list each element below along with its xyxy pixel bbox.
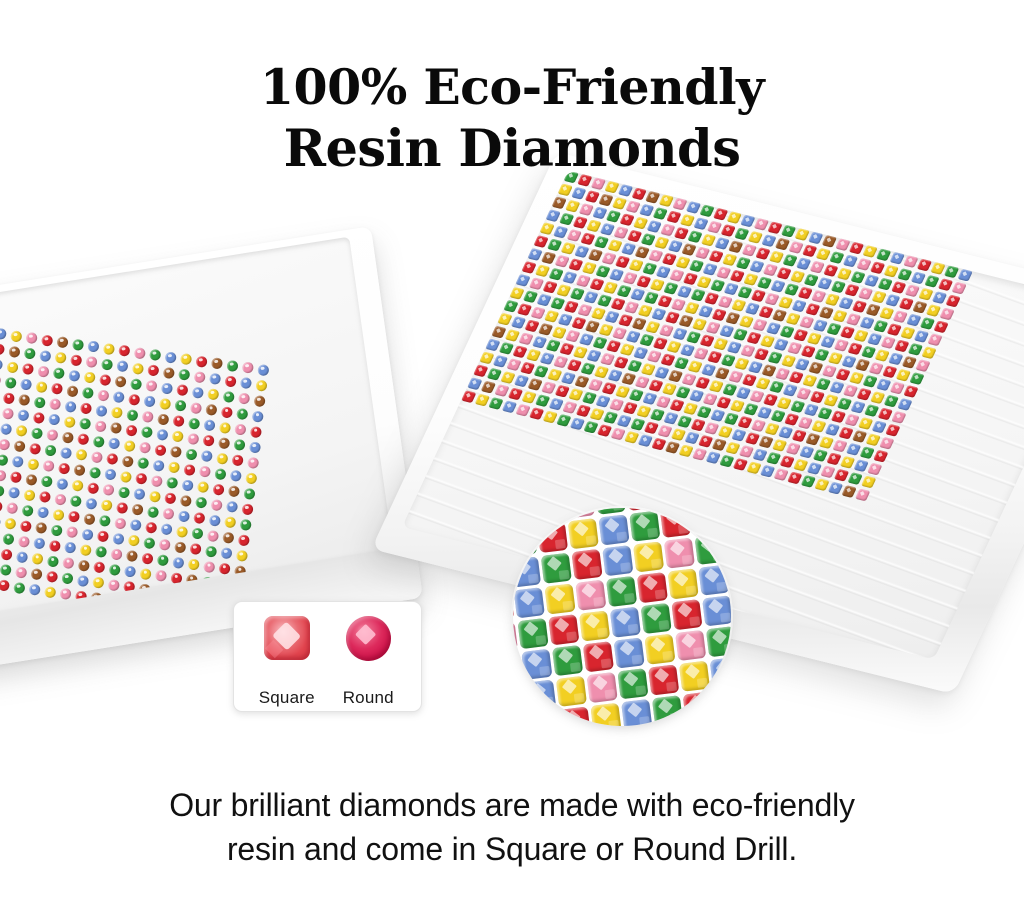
drill-bead xyxy=(652,695,683,726)
drill-bead xyxy=(226,500,238,513)
drill-bead xyxy=(683,691,714,722)
drill-bead xyxy=(82,528,94,541)
drill-bead xyxy=(729,561,731,592)
drill-bead xyxy=(128,534,140,547)
drill-bead xyxy=(24,347,36,360)
drill-bead xyxy=(602,545,633,576)
drill-bead xyxy=(679,661,710,692)
drill-bead xyxy=(207,529,219,542)
drill-bead xyxy=(99,373,111,386)
drill-bead xyxy=(0,515,1,528)
drill-bead xyxy=(145,380,157,393)
drill-bead xyxy=(174,541,186,554)
drill-bead xyxy=(16,550,28,563)
drill-bead xyxy=(228,485,240,498)
drill-bead xyxy=(132,362,144,375)
drill-bead xyxy=(236,549,248,562)
drill-bead xyxy=(95,545,107,558)
drill-bead xyxy=(200,450,212,463)
drill-bead xyxy=(6,361,18,374)
drill-bead xyxy=(725,530,731,561)
drill-bead xyxy=(706,626,731,657)
drill-bead xyxy=(686,722,717,726)
drill-bead xyxy=(1,548,13,561)
drill-bead xyxy=(637,572,668,603)
drill-bead xyxy=(241,503,253,516)
drill-bead xyxy=(137,457,149,470)
drill-bead xyxy=(0,564,11,577)
drill-bead xyxy=(513,556,541,587)
drill-bead xyxy=(49,539,61,552)
drill-bead xyxy=(130,377,142,390)
drill-bead xyxy=(187,432,199,445)
drill-bead xyxy=(83,512,95,525)
drill-bead xyxy=(54,493,66,506)
drill-bead xyxy=(250,425,262,438)
drill-bead xyxy=(698,565,729,596)
drill-bead xyxy=(178,510,190,523)
drill-bead xyxy=(702,595,731,626)
drill-bead xyxy=(169,446,181,459)
drill-bead xyxy=(44,444,56,457)
drill-bead xyxy=(610,607,641,638)
drill-bead xyxy=(125,424,137,437)
drill-bead xyxy=(224,375,236,388)
drill-bead xyxy=(579,610,610,641)
drill-bead xyxy=(107,579,119,592)
drill-bead xyxy=(219,562,231,575)
drill-bead xyxy=(13,581,25,594)
drill-bead xyxy=(236,408,248,421)
drill-bead xyxy=(216,452,228,465)
drill-bead xyxy=(537,522,568,553)
drill-bead xyxy=(722,508,731,530)
drill-bead xyxy=(675,630,706,661)
drill-bead xyxy=(93,561,105,574)
drill-bead xyxy=(8,486,20,499)
drill-bead xyxy=(68,510,80,523)
drill-bead xyxy=(97,389,109,402)
drill-bead xyxy=(150,474,162,487)
drill-bead xyxy=(204,419,216,432)
drill-bead xyxy=(212,483,224,496)
drill-bead xyxy=(185,448,197,461)
drill-bead xyxy=(203,560,215,573)
drill-bead xyxy=(548,614,579,645)
drill-bead xyxy=(116,360,128,373)
drill-bead xyxy=(629,511,660,542)
drill-bead xyxy=(575,580,606,611)
drill-bead xyxy=(245,472,257,485)
drill-bead xyxy=(0,422,12,435)
drill-bead xyxy=(20,378,32,391)
drill-bead xyxy=(587,672,618,703)
drill-bead xyxy=(41,334,53,347)
drill-bead xyxy=(92,435,104,448)
drill-bead xyxy=(78,418,90,431)
drill-bead xyxy=(142,552,154,565)
drill-bead xyxy=(85,356,97,369)
magnifier-closeup-circle xyxy=(513,508,731,726)
drill-bead xyxy=(190,543,202,556)
drill-bead xyxy=(220,547,232,560)
drill-bead xyxy=(61,572,73,585)
drill-bead xyxy=(606,576,637,607)
drill-bead xyxy=(192,386,204,399)
drill-bead xyxy=(67,384,79,397)
drill-bead xyxy=(14,566,26,579)
drill-bead xyxy=(149,490,161,503)
drill-bead xyxy=(514,587,545,618)
drill-bead xyxy=(0,469,7,482)
drill-bead xyxy=(171,430,183,443)
drill-bead xyxy=(552,645,583,676)
drill-bead xyxy=(0,374,2,387)
drill-bead xyxy=(65,400,77,413)
drill-bead xyxy=(64,541,76,554)
drill-bead xyxy=(23,489,35,502)
drill-bead xyxy=(30,427,42,440)
drill-bead xyxy=(22,504,34,517)
drill-bead xyxy=(25,473,37,486)
drill-bead xyxy=(235,423,247,436)
drill-bead xyxy=(35,522,47,535)
drill-bead xyxy=(29,442,41,455)
drill-bead xyxy=(116,501,128,514)
drill-bead xyxy=(157,554,169,567)
drill-bead xyxy=(142,410,154,423)
drill-bead xyxy=(710,657,731,688)
drill-bead xyxy=(72,338,84,351)
drill-bead xyxy=(76,574,88,587)
drill-bead xyxy=(180,353,192,366)
legend-label-square: Square xyxy=(240,688,334,708)
drill-bead xyxy=(49,398,61,411)
page-title: 100% Eco-Friendly Resin Diamonds xyxy=(0,56,1024,180)
drill-bead xyxy=(183,463,195,476)
drill-bead xyxy=(77,433,89,446)
drill-bead xyxy=(124,565,136,578)
drill-type-legend-card: Square Round xyxy=(233,601,422,712)
drill-bead xyxy=(18,535,30,548)
page-caption: Our brilliant diamonds are made with eco… xyxy=(0,783,1024,871)
drill-bead xyxy=(11,455,23,468)
drill-bead xyxy=(671,599,702,630)
drill-bead xyxy=(641,603,672,634)
drill-bead xyxy=(135,472,147,485)
drill-bead xyxy=(513,714,529,726)
drill-bead xyxy=(617,668,648,699)
drill-bead xyxy=(544,583,575,614)
drill-bead xyxy=(73,464,85,477)
drill-bead xyxy=(513,653,522,684)
drill-bead xyxy=(22,363,34,376)
drill-bead xyxy=(37,506,49,519)
drill-bead xyxy=(3,533,15,546)
drill-bead xyxy=(513,526,537,557)
drill-bead xyxy=(131,503,143,516)
drill-bead xyxy=(10,330,22,343)
caption-line-1: Our brilliant diamonds are made with eco… xyxy=(0,783,1024,827)
drill-bead xyxy=(103,342,115,355)
drill-bead xyxy=(161,382,173,395)
drill-bead xyxy=(529,710,560,726)
drill-bead xyxy=(233,439,245,452)
drill-bead xyxy=(210,498,222,511)
drill-bead xyxy=(176,525,188,538)
drill-bead xyxy=(84,371,96,384)
drill-bead xyxy=(109,422,121,435)
drill-bead xyxy=(118,486,130,499)
drill-bead xyxy=(108,437,120,450)
caption-line-2: resin and come in Square or Round Drill. xyxy=(0,827,1024,871)
drill-bead xyxy=(154,444,166,457)
drill-bead xyxy=(4,517,16,530)
drill-bead xyxy=(229,470,241,483)
legend-item-square: Square xyxy=(240,616,334,660)
drill-bead xyxy=(195,496,207,509)
drill-bead xyxy=(207,388,219,401)
drill-bead xyxy=(159,538,171,551)
drill-bead xyxy=(71,479,83,492)
legend-label-round: Round xyxy=(322,688,416,708)
drill-bead xyxy=(564,508,595,519)
drill-bead xyxy=(194,370,206,383)
drill-bead xyxy=(115,375,127,388)
left-tray-round-drills xyxy=(0,265,400,640)
drill-bead xyxy=(0,358,3,371)
drill-bead xyxy=(75,448,87,461)
drill-bead xyxy=(8,345,20,358)
drill-bead xyxy=(39,491,51,504)
drill-bead xyxy=(0,500,3,513)
drill-bead xyxy=(214,467,226,480)
drill-bead xyxy=(159,397,171,410)
drill-bead xyxy=(45,570,57,583)
legend-item-round: Round xyxy=(322,616,416,661)
drill-bead xyxy=(78,559,90,572)
drill-bead xyxy=(126,408,138,421)
drill-bead xyxy=(242,361,254,374)
drill-bead xyxy=(614,637,645,668)
drill-bead xyxy=(40,475,52,488)
drill-bead xyxy=(39,349,51,362)
drill-bead xyxy=(20,519,32,532)
drill-bead xyxy=(238,534,250,547)
drill-bead xyxy=(143,536,155,549)
drill-bead xyxy=(713,688,731,719)
drill-bead xyxy=(513,508,534,526)
drill-bead xyxy=(157,413,169,426)
drill-bead xyxy=(109,563,121,576)
drill-bead xyxy=(33,537,45,550)
drill-bead xyxy=(1,407,13,420)
drill-bead xyxy=(42,460,54,473)
drill-bead xyxy=(178,368,190,381)
drill-bead xyxy=(517,618,548,649)
drill-bead xyxy=(126,550,138,563)
drill-bead xyxy=(63,557,75,570)
drill-bead xyxy=(541,553,572,584)
drill-bead xyxy=(691,508,722,534)
drill-bead xyxy=(533,508,564,522)
drill-bead xyxy=(240,377,252,390)
drill-bead xyxy=(209,514,221,527)
drill-bead xyxy=(660,508,691,538)
drill-bead xyxy=(58,462,70,475)
drill-bead xyxy=(13,440,25,453)
drill-bead xyxy=(97,530,109,543)
drill-bead xyxy=(164,492,176,505)
square-drill-icon xyxy=(264,616,310,660)
drill-bead xyxy=(118,344,130,357)
drill-bead xyxy=(664,538,695,569)
drill-bead xyxy=(36,380,48,393)
drill-bead xyxy=(100,499,112,512)
drill-bead xyxy=(560,706,591,726)
drill-bead xyxy=(521,649,552,680)
drill-bead xyxy=(162,508,174,521)
drill-bead xyxy=(44,586,56,599)
drill-bead xyxy=(48,413,60,426)
drill-bead xyxy=(166,477,178,490)
drill-bead xyxy=(190,401,202,414)
drill-bead xyxy=(90,451,102,464)
drill-bead xyxy=(133,488,145,501)
drill-bead xyxy=(224,516,236,529)
drill-bead xyxy=(668,568,699,599)
drill-bead xyxy=(66,526,78,539)
drill-bead xyxy=(89,466,101,479)
drill-bead xyxy=(252,410,264,423)
drill-bead xyxy=(598,514,629,545)
drill-bead xyxy=(209,373,221,386)
drill-bead xyxy=(226,359,238,372)
magnified-square-drill-grid xyxy=(513,508,731,726)
drill-bead xyxy=(111,548,123,561)
drill-bead xyxy=(247,456,259,469)
headline-line-1: 100% Eco-Friendly xyxy=(0,56,1024,118)
drill-bead xyxy=(217,437,229,450)
drill-bead xyxy=(128,393,140,406)
drill-bead xyxy=(80,543,92,556)
headline-line-2: Resin Diamonds xyxy=(0,118,1024,180)
drill-bead xyxy=(147,364,159,377)
drill-bead xyxy=(205,403,217,416)
drill-bead xyxy=(160,523,172,536)
drill-bead xyxy=(156,428,168,441)
drill-bead xyxy=(195,355,207,368)
drill-bead xyxy=(104,468,116,481)
drill-bead xyxy=(590,703,621,726)
drill-bead xyxy=(55,351,67,364)
drill-bead xyxy=(0,453,8,466)
drill-bead xyxy=(114,517,126,530)
drill-bead xyxy=(121,455,133,468)
drill-bead xyxy=(255,379,267,392)
drill-bead xyxy=(61,431,73,444)
drill-bead xyxy=(51,524,63,537)
drill-bead xyxy=(28,583,40,596)
drill-bead xyxy=(51,382,63,395)
drill-bead xyxy=(648,664,679,695)
drill-bead xyxy=(219,421,231,434)
drill-bead xyxy=(87,481,99,494)
drill-bead xyxy=(556,676,587,707)
drill-bead xyxy=(168,461,180,474)
drill-bead xyxy=(113,391,125,404)
drill-bead xyxy=(147,505,159,518)
drill-bead xyxy=(119,470,131,483)
drill-bead xyxy=(583,641,614,672)
drill-bead xyxy=(37,365,49,378)
drill-bead xyxy=(10,471,22,484)
drill-bead xyxy=(172,556,184,569)
drill-bead xyxy=(30,568,42,581)
drill-bead xyxy=(102,484,114,497)
drill-bead xyxy=(96,404,108,417)
drill-bead xyxy=(571,549,602,580)
drill-bead xyxy=(176,384,188,397)
drill-bead xyxy=(188,558,200,571)
drill-bead xyxy=(221,406,233,419)
drill-bead xyxy=(205,545,217,558)
drill-bead xyxy=(15,425,27,438)
drill-bead xyxy=(144,395,156,408)
drill-bead xyxy=(17,409,29,422)
drill-bead xyxy=(3,392,15,405)
drill-bead xyxy=(68,369,80,382)
drill-bead xyxy=(633,541,664,572)
drill-bead xyxy=(181,479,193,492)
drill-bead xyxy=(94,420,106,433)
drill-bead xyxy=(59,588,71,601)
drill-bead xyxy=(52,508,64,521)
drill-bead xyxy=(145,521,157,534)
drill-bead xyxy=(80,402,92,415)
round-drill-icon xyxy=(346,616,391,661)
drill-bead xyxy=(134,347,146,360)
drill-bead xyxy=(56,336,68,349)
drill-bead xyxy=(46,429,58,442)
drill-bead xyxy=(595,508,626,515)
drill-bead xyxy=(111,406,123,419)
drill-bead xyxy=(191,527,203,540)
drill-bead xyxy=(202,434,214,447)
drill-bead xyxy=(32,553,44,566)
drill-bead xyxy=(0,484,5,497)
drill-bead xyxy=(155,569,167,582)
drill-bead xyxy=(211,357,223,370)
drill-bead xyxy=(231,454,243,467)
drill-bead xyxy=(99,515,111,528)
drill-bead xyxy=(0,579,10,592)
drill-bead xyxy=(70,495,82,508)
drill-bead xyxy=(644,634,675,665)
drill-bead xyxy=(197,481,209,494)
drill-bead xyxy=(188,417,200,430)
drill-bead xyxy=(140,567,152,580)
drill-bead xyxy=(198,465,210,478)
drill-bead xyxy=(106,453,118,466)
drill-bead xyxy=(163,366,175,379)
drill-bead xyxy=(6,502,18,515)
drill-bead xyxy=(149,349,161,362)
drill-bead xyxy=(123,439,135,452)
drill-bead xyxy=(248,441,260,454)
drill-bead xyxy=(0,438,10,451)
drill-bead xyxy=(56,477,68,490)
